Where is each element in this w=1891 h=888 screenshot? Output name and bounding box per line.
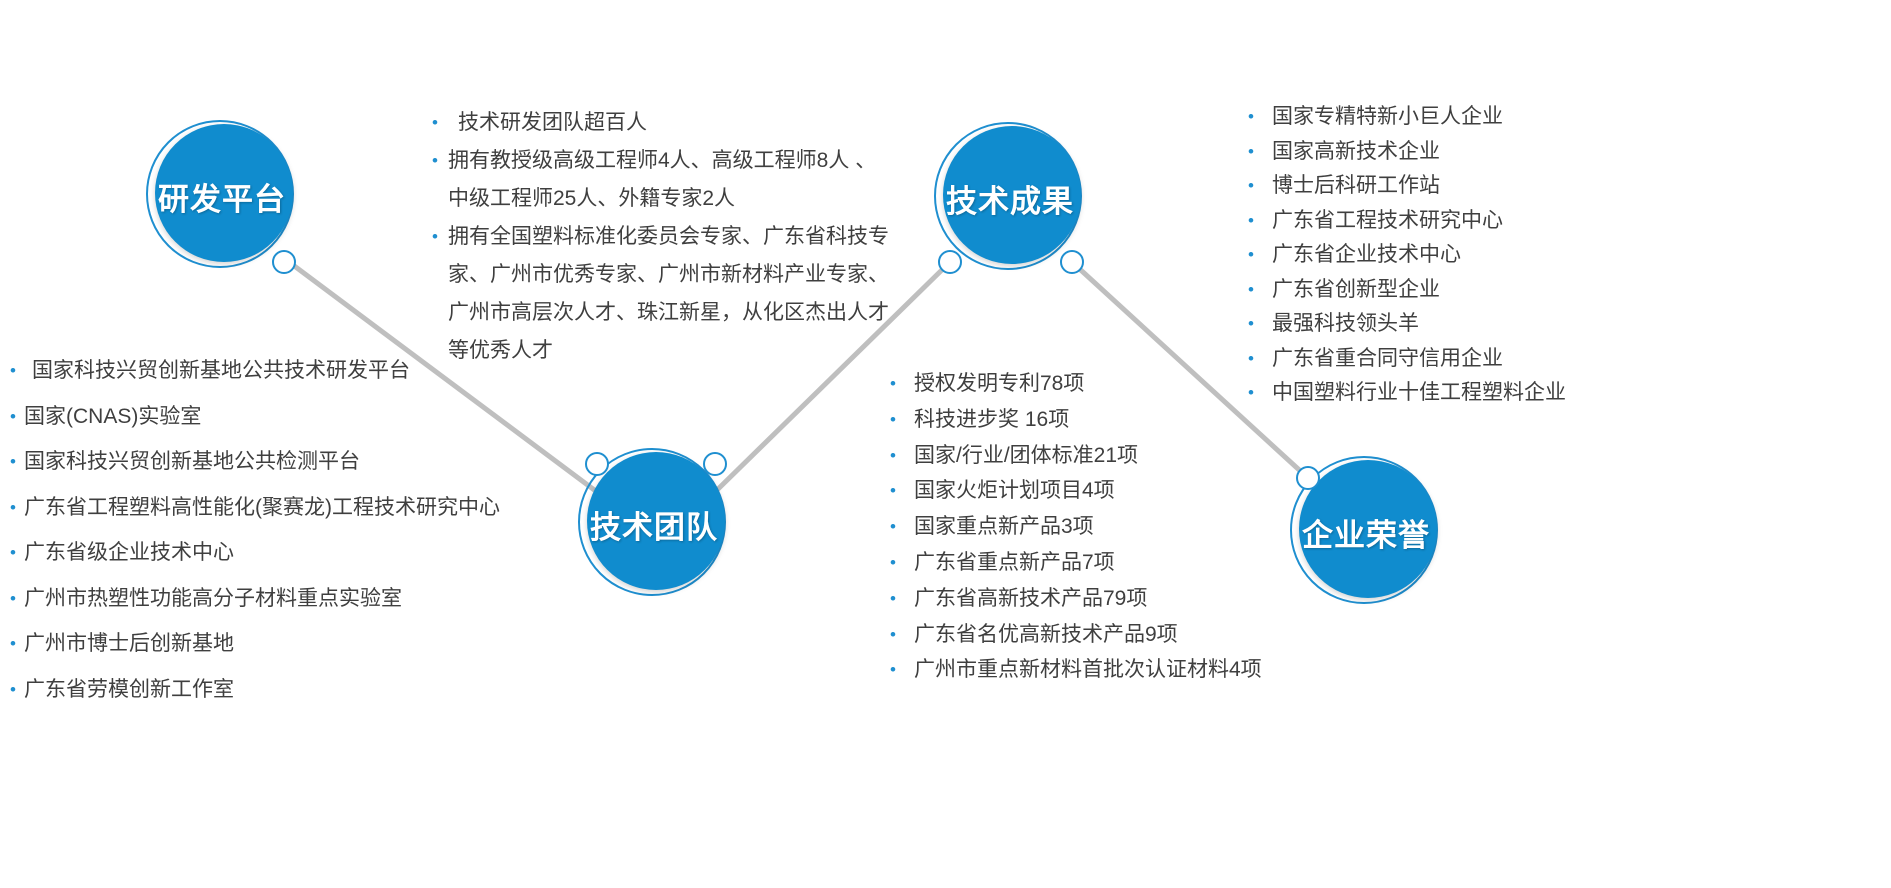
- list-item: • 广州市重点新材料首批次认证材料4项: [890, 652, 1350, 688]
- list-item: • 广东省重合同守信用企业: [1248, 342, 1888, 377]
- list-item: • 广东省工程塑料高性能化(聚赛龙)工程技术研究中心: [10, 485, 630, 531]
- list-item: • 广东省工程技术研究中心: [1248, 204, 1888, 239]
- list-item-label: 广东省重合同守信用企业: [1272, 342, 1888, 377]
- list-item-label: 国家高新技术企业: [1272, 135, 1888, 170]
- bullet-icon: •: [890, 617, 914, 653]
- list-item: • 广东省企业技术中心: [1248, 238, 1888, 273]
- list-item-label: 最强科技领头羊: [1272, 307, 1888, 342]
- list-item-label: 国家专精特新小巨人企业: [1272, 100, 1888, 135]
- bullet-icon: •: [10, 667, 24, 713]
- bullet-icon: •: [432, 218, 448, 256]
- bullet-icon: •: [10, 621, 24, 667]
- list-team: • 技术研发团队超百人 • 拥有教授级高级工程师4人、高级工程师8人 、中级工程…: [432, 104, 892, 370]
- list-item: • 广东省创新型企业: [1248, 273, 1888, 308]
- bullet-icon: •: [1248, 376, 1272, 411]
- list-item: • 广东省名优高新技术产品9项: [890, 617, 1350, 653]
- list-item-label: 广州市博士后创新基地: [24, 621, 630, 667]
- list-item: • 广东省高新技术产品79项: [890, 581, 1350, 617]
- bullet-icon: •: [10, 576, 24, 622]
- connector-knob-team-left: [585, 452, 609, 476]
- bullet-icon: •: [890, 509, 914, 545]
- list-item-label: 广东省劳模创新工作室: [24, 667, 630, 713]
- list-item-label: 广东省工程技术研究中心: [1272, 204, 1888, 239]
- list-item-label: 国家火炬计划项目4项: [914, 473, 1350, 509]
- list-item: • 广东省重点新产品7项: [890, 545, 1350, 581]
- list-item: • 国家科技兴贸创新基地公共技术研发平台: [10, 348, 630, 394]
- list-item: • 广东省劳模创新工作室: [10, 667, 630, 713]
- list-item-label: 广州市重点新材料首批次认证材料4项: [914, 652, 1350, 688]
- list-item: • 最强科技领头羊: [1248, 307, 1888, 342]
- list-item: • 国家高新技术企业: [1248, 135, 1888, 170]
- list-item-label: 广州市热塑性功能高分子材料重点实验室: [24, 576, 630, 622]
- bullet-icon: •: [1248, 238, 1272, 273]
- list-item-label: 国家重点新产品3项: [914, 509, 1350, 545]
- bullet-icon: •: [432, 142, 448, 180]
- bullet-icon: •: [890, 438, 914, 474]
- list-item: • 国家科技兴贸创新基地公共检测平台: [10, 439, 630, 485]
- bullet-icon: •: [890, 545, 914, 581]
- list-item-label: 广东省创新型企业: [1272, 273, 1888, 308]
- list-item-label: 国家/行业/团体标准21项: [914, 438, 1350, 474]
- bullet-icon: •: [890, 652, 914, 688]
- list-item: • 广州市热塑性功能高分子材料重点实验室: [10, 576, 630, 622]
- connector-knob-achieve-right: [1060, 250, 1084, 274]
- bullet-icon: •: [1248, 273, 1272, 308]
- bullet-icon: •: [890, 366, 914, 402]
- list-item-label: 广东省名优高新技术产品9项: [914, 617, 1350, 653]
- list-item: • 广东省级企业技术中心: [10, 530, 630, 576]
- list-item: • 中国塑料行业十佳工程塑料企业: [1248, 376, 1888, 411]
- list-item: • 国家/行业/团体标准21项: [890, 438, 1350, 474]
- list-item: • 国家火炬计划项目4项: [890, 473, 1350, 509]
- list-platform: • 国家科技兴贸创新基地公共技术研发平台 • 国家(CNAS)实验室 • 国家科…: [10, 348, 630, 712]
- bullet-icon: •: [890, 581, 914, 617]
- list-item: • 国家(CNAS)实验室: [10, 394, 630, 440]
- list-item-label: 广东省高新技术产品79项: [914, 581, 1350, 617]
- bullet-icon: •: [1248, 204, 1272, 239]
- list-item-label: 广东省工程塑料高性能化(聚赛龙)工程技术研究中心: [24, 485, 630, 531]
- bullet-icon: •: [1248, 342, 1272, 377]
- list-achieve: • 授权发明专利78项 • 科技进步奖 16项 • 国家/行业/团体标准21项 …: [890, 366, 1350, 688]
- list-item: • 博士后科研工作站: [1248, 169, 1888, 204]
- bullet-icon: •: [1248, 135, 1272, 170]
- bullet-icon: •: [10, 348, 24, 394]
- list-item-label: 国家科技兴贸创新基地公共技术研发平台: [24, 348, 630, 394]
- node-platform[interactable]: 研发平台: [146, 120, 298, 272]
- list-item: • 广州市博士后创新基地: [10, 621, 630, 667]
- list-item: • 国家专精特新小巨人企业: [1248, 100, 1888, 135]
- bullet-icon: •: [10, 439, 24, 485]
- bullet-icon: •: [10, 530, 24, 576]
- connector-knob-team-right: [703, 452, 727, 476]
- list-item-label: 技术研发团队超百人: [448, 104, 892, 142]
- bullet-icon: •: [10, 485, 24, 531]
- node-platform-label: 研发平台: [146, 120, 298, 272]
- bullet-icon: •: [1248, 169, 1272, 204]
- diagram-canvas: 研发平台 技术团队 技术成果 企业荣誉 • 技术研发团队超百人 • 拥有教授级高…: [0, 0, 1891, 888]
- bullet-icon: •: [10, 394, 24, 440]
- list-item-label: 国家科技兴贸创新基地公共检测平台: [24, 439, 630, 485]
- list-item-label: 国家(CNAS)实验室: [24, 394, 630, 440]
- list-item-label: 广东省重点新产品7项: [914, 545, 1350, 581]
- connector-knob-honor: [1296, 466, 1320, 490]
- list-item-label: 中国塑料行业十佳工程塑料企业: [1272, 376, 1888, 411]
- list-item-label: 博士后科研工作站: [1272, 169, 1888, 204]
- list-item-label: 广东省级企业技术中心: [24, 530, 630, 576]
- connector-knob-achieve-left: [938, 250, 962, 274]
- bullet-icon: •: [890, 402, 914, 438]
- bullet-icon: •: [432, 104, 448, 142]
- list-item: • 国家重点新产品3项: [890, 509, 1350, 545]
- bullet-icon: •: [1248, 307, 1272, 342]
- list-item: • 拥有教授级高级工程师4人、高级工程师8人 、中级工程师25人、外籍专家2人: [432, 142, 892, 218]
- bullet-icon: •: [1248, 100, 1272, 135]
- connector-knob-platform: [272, 250, 296, 274]
- list-item-label: 拥有教授级高级工程师4人、高级工程师8人 、中级工程师25人、外籍专家2人: [448, 142, 892, 218]
- list-item: • 技术研发团队超百人: [432, 104, 892, 142]
- bullet-icon: •: [890, 473, 914, 509]
- list-item-label: 广东省企业技术中心: [1272, 238, 1888, 273]
- list-honor: • 国家专精特新小巨人企业 • 国家高新技术企业 • 博士后科研工作站 • 广东…: [1248, 100, 1888, 411]
